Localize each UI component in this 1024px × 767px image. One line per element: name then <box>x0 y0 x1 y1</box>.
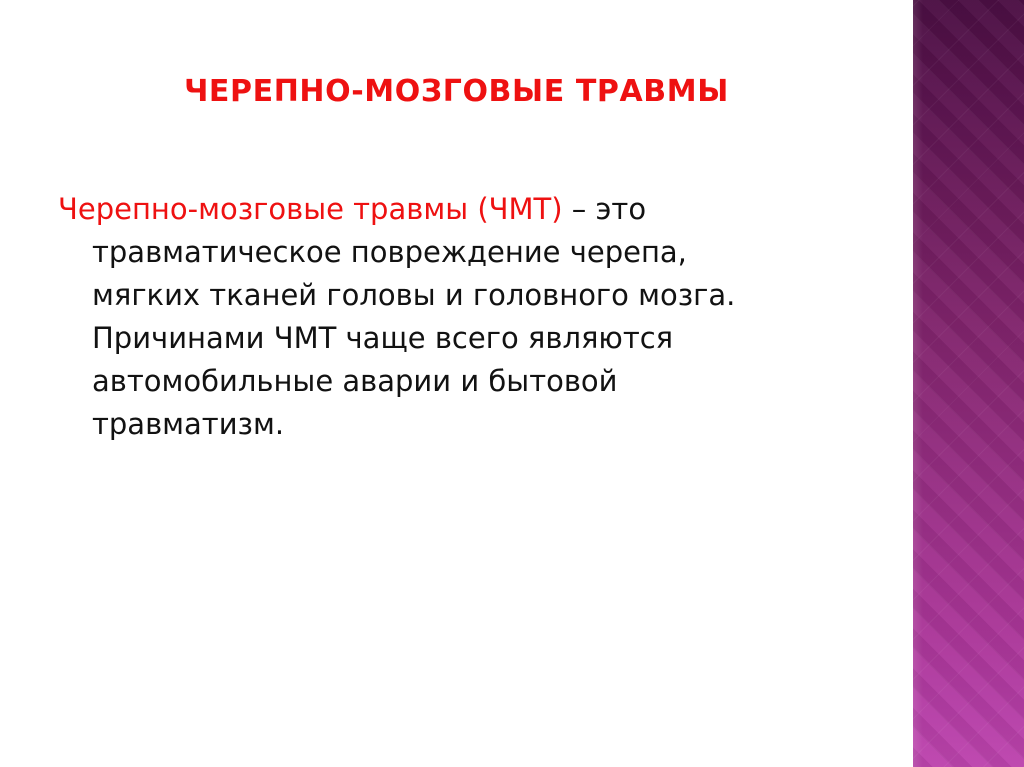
body-rest-run: – это травматическое повреждение черепа,… <box>92 192 735 441</box>
presentation-slide: ЧЕРЕПНО-МОЗГОВЫЕ ТРАВМЫ Черепно-мозговые… <box>0 0 1024 767</box>
slide-body-text-block: Черепно-мозговые травмы (ЧМТ) – это трав… <box>58 188 758 446</box>
purple-gradient-band <box>913 0 1024 767</box>
body-highlight-run: Черепно-мозговые травмы (ЧМТ) <box>58 192 563 226</box>
band-edge-highlight <box>913 0 923 767</box>
page-title: ЧЕРЕПНО-МОЗГОВЫЕ ТРАВМЫ <box>0 74 913 109</box>
diamond-pattern-texture <box>913 0 1024 767</box>
body-paragraph: Черепно-мозговые травмы (ЧМТ) – это трав… <box>58 188 758 446</box>
